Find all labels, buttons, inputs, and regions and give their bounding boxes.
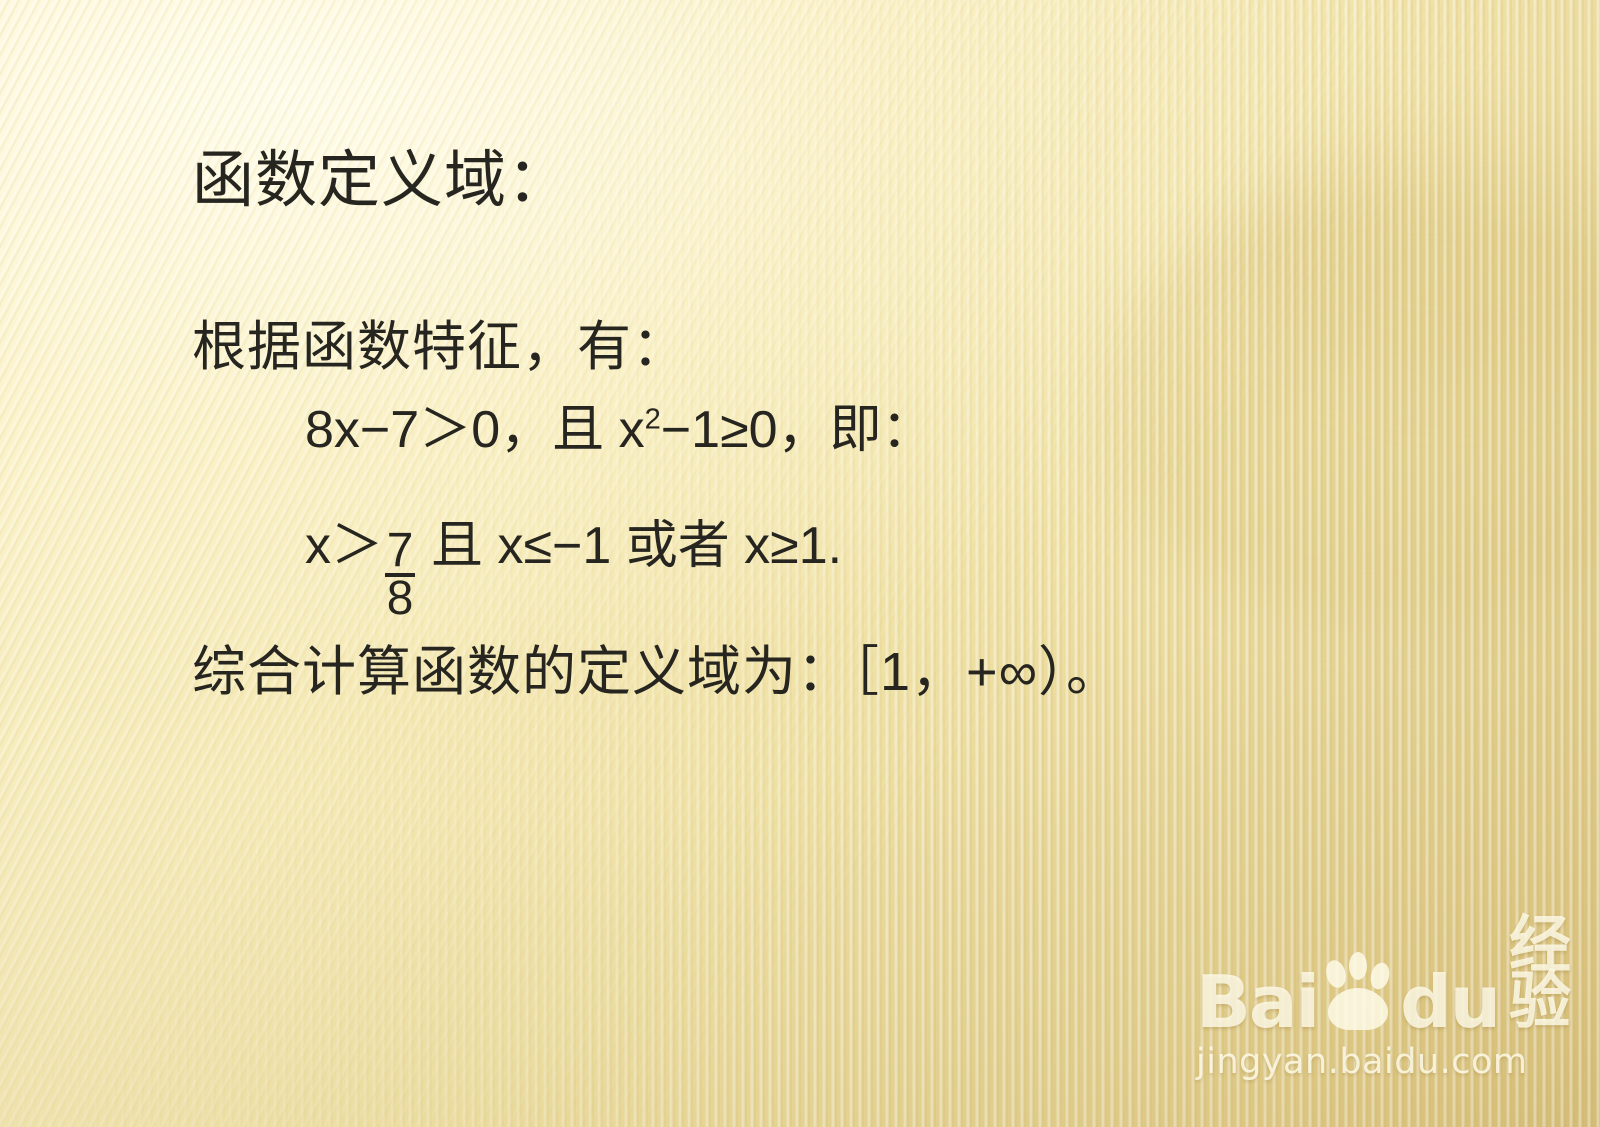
inequality-exponent: 2: [645, 404, 661, 436]
inequality-part-one: 8x−7＞0，且 x: [305, 401, 645, 459]
result-text: 综合计算函数的定义域为：［1，+∞）。: [192, 645, 1121, 699]
fraction-denominator: 8: [387, 578, 414, 620]
baidu-jingyan-label: 经验: [1509, 918, 1588, 1034]
fraction-line-prefix: x＞: [305, 520, 383, 572]
fraction-numerator: 7: [387, 530, 414, 572]
paw-print-icon: [1312, 948, 1404, 1040]
presentation-slide: 函数定义域： 根据函数特征，有： 8x−7＞0，且 x2−1≥0，即： x＞78…: [0, 0, 1600, 1127]
watermark-url: jingyan.baidu.com: [1196, 1042, 1588, 1082]
fraction-seven-eighths: 78: [385, 530, 415, 620]
watermark-logo-row: Bai du 经验: [1196, 942, 1588, 1034]
baidu-wordmark: Bai du: [1196, 948, 1499, 1034]
baidu-jingyan-watermark: Bai du 经验 jingyan.baidu.com: [1196, 942, 1588, 1082]
slide-title: 函数定义域：: [192, 150, 570, 212]
inequality-part-two: −1≥0，即：: [661, 401, 934, 459]
baidu-wordmark-du: du: [1400, 972, 1499, 1034]
inequality-line: 8x−7＞0，且 x2−1≥0，即：: [305, 404, 934, 456]
intro-text: 根据函数特征，有：: [192, 320, 687, 374]
fraction-line-suffix: 且 x≤−1 或者 x≥1.: [431, 520, 842, 572]
fraction-line: x＞78且 x≤−1 或者 x≥1.: [305, 520, 842, 617]
baidu-wordmark-bai: Bai: [1196, 972, 1318, 1034]
